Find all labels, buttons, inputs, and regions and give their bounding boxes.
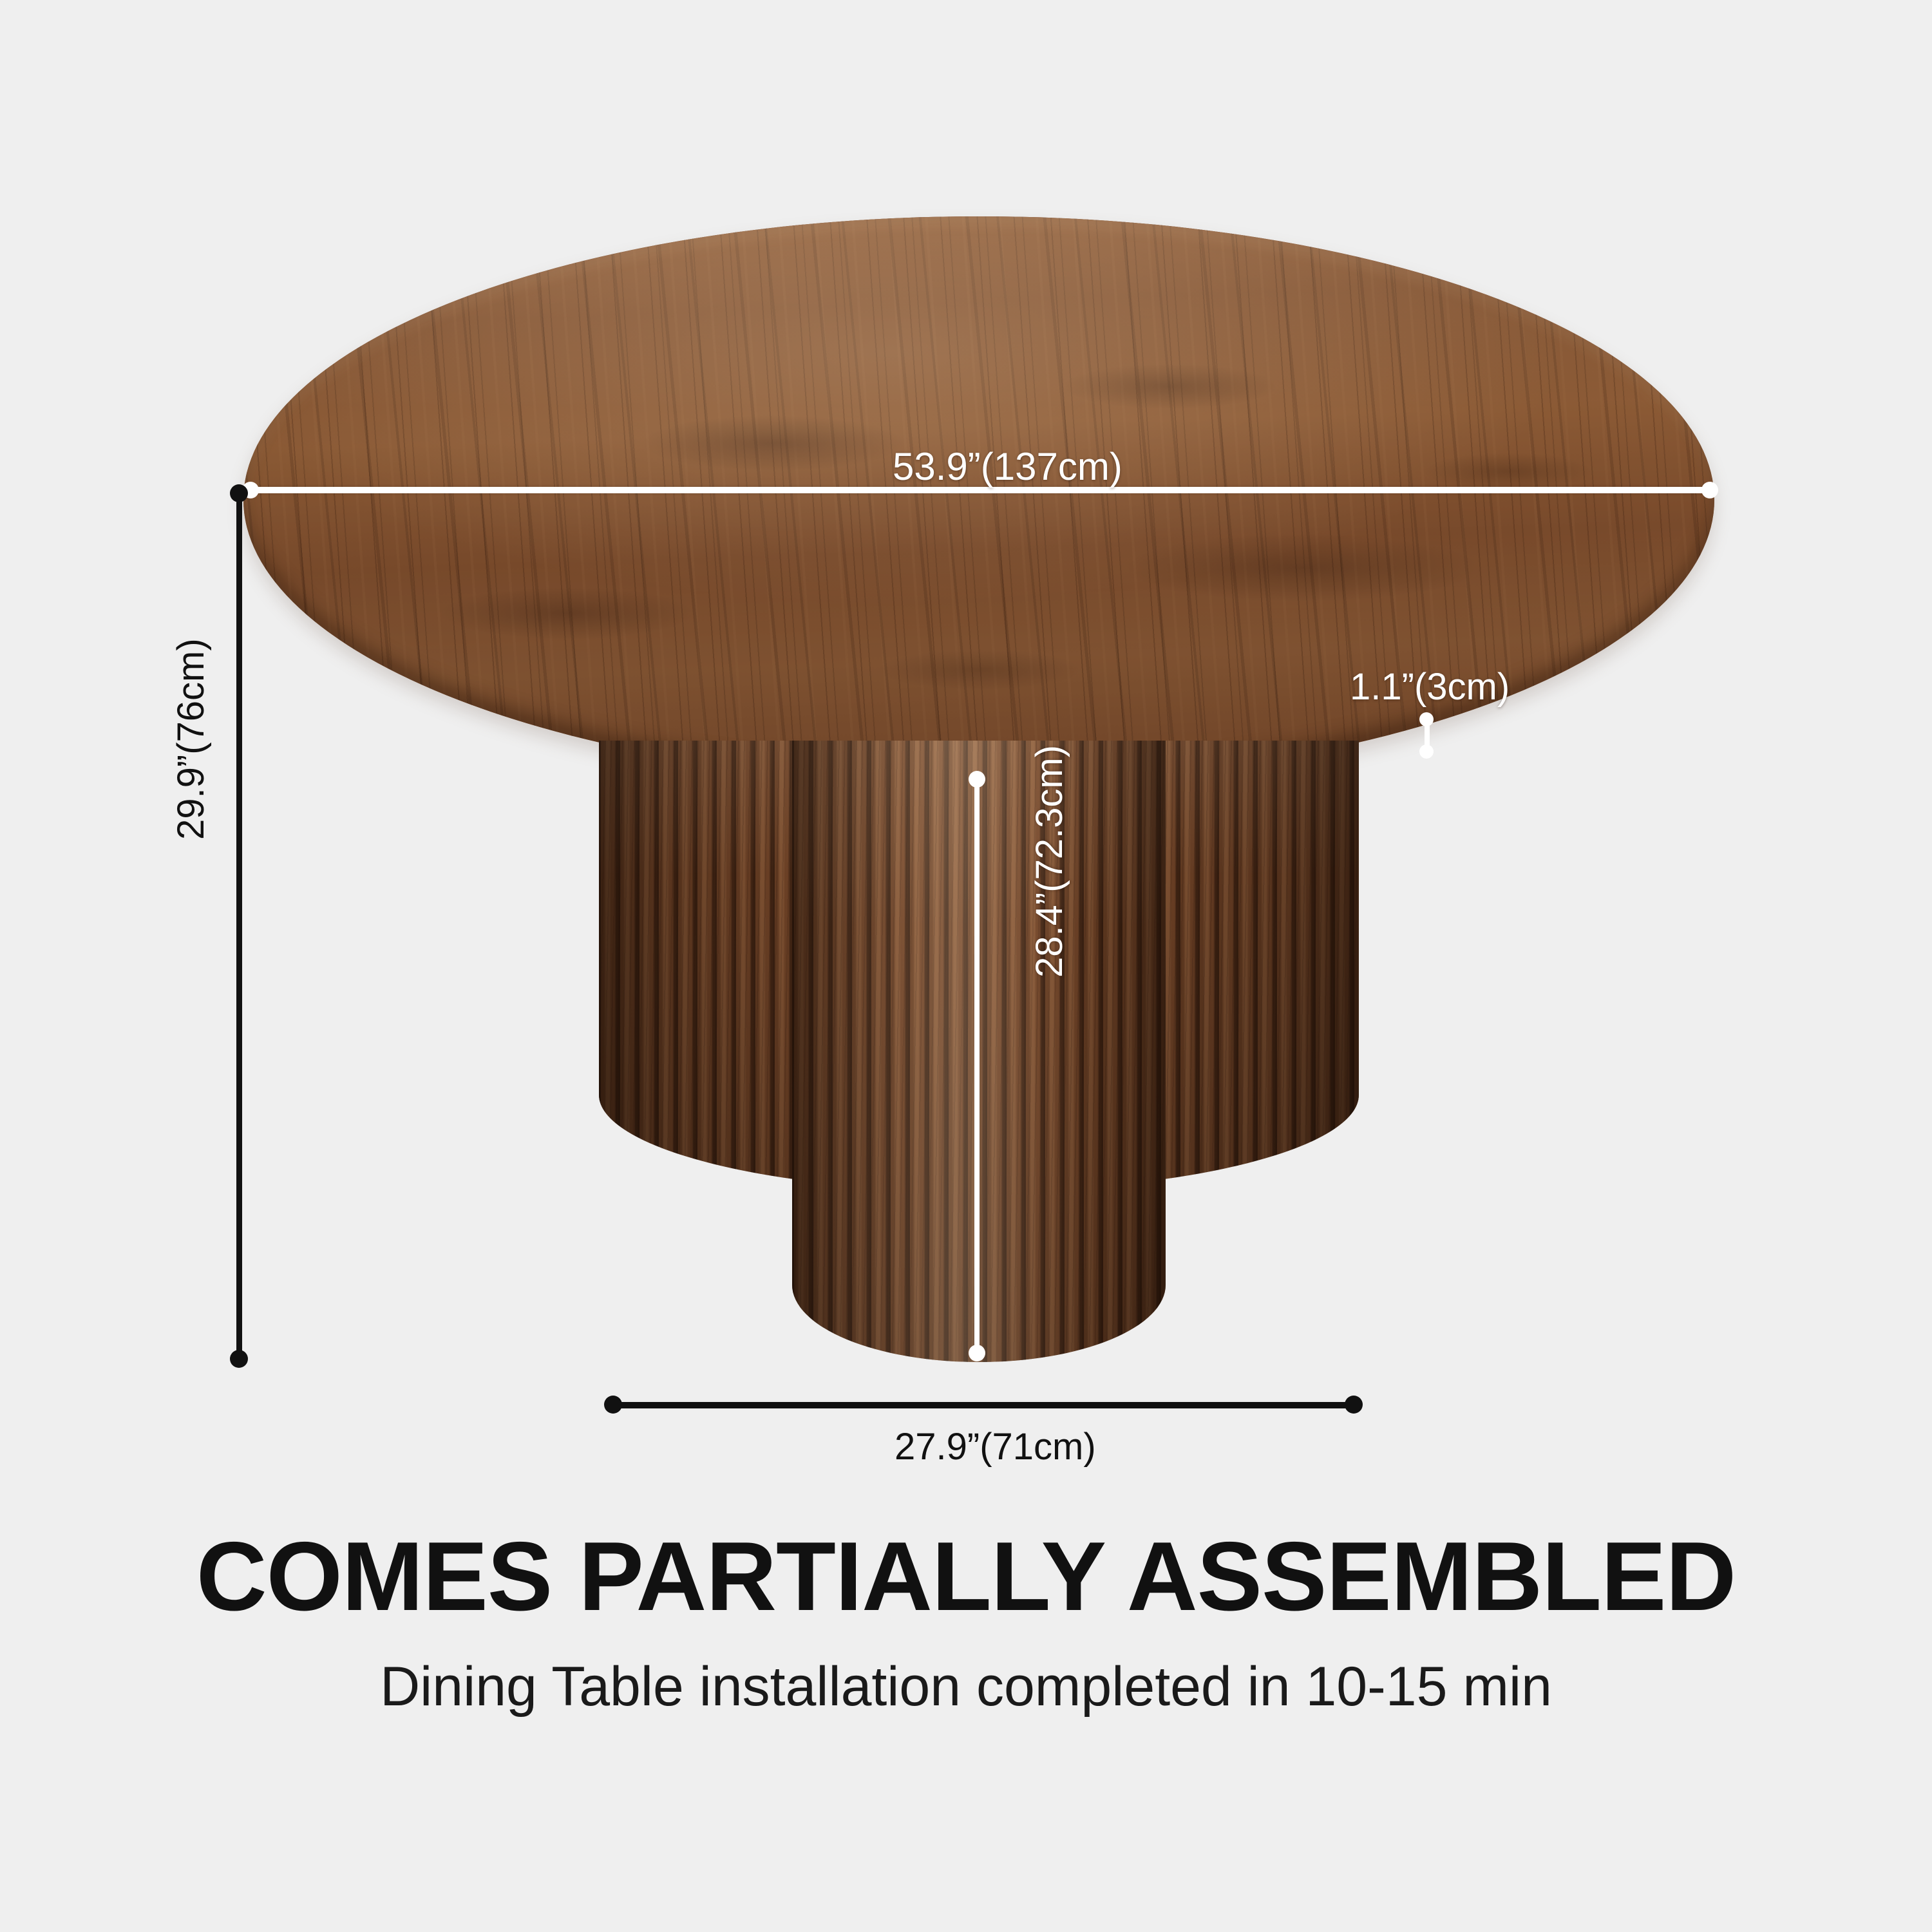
base-height-endpoint-bottom-dot: [969, 1345, 985, 1361]
width-dimension-label: 53.9”(137cm): [893, 444, 1122, 489]
base-width-dimension-label: 27.9”(71cm): [895, 1425, 1096, 1468]
thickness-endpoint-bottom-dot: [1419, 744, 1434, 759]
thickness-endpoint-top-dot: [1419, 712, 1434, 726]
dimension-diagram-canvas: 53.9”(137cm) 1.1”(3cm) 29.9”(76cm) 28.4”…: [0, 0, 1932, 1932]
height-endpoint-bottom-dot: [230, 1350, 248, 1368]
base-width-dimension-line: [613, 1402, 1354, 1408]
thickness-dimension-label: 1.1”(3cm): [1350, 665, 1510, 708]
base-width-endpoint-left-dot: [604, 1396, 622, 1414]
height-dimension-label: 29.9”(76cm): [169, 638, 213, 840]
height-endpoint-top-dot: [230, 484, 248, 502]
base-height-endpoint-top-dot: [969, 771, 985, 788]
base-height-dimension-label: 28.4”(72.3cm): [1028, 745, 1071, 978]
base-height-dimension-line: [974, 782, 980, 1354]
base-width-endpoint-right-dot: [1345, 1396, 1363, 1414]
height-dimension-line: [236, 493, 242, 1359]
assembly-subline: Dining Table installation completed in 1…: [0, 1655, 1932, 1719]
assembly-headline: COMES PARTIALLY ASSEMBLED: [0, 1528, 1932, 1625]
width-endpoint-right-dot: [1701, 482, 1718, 498]
